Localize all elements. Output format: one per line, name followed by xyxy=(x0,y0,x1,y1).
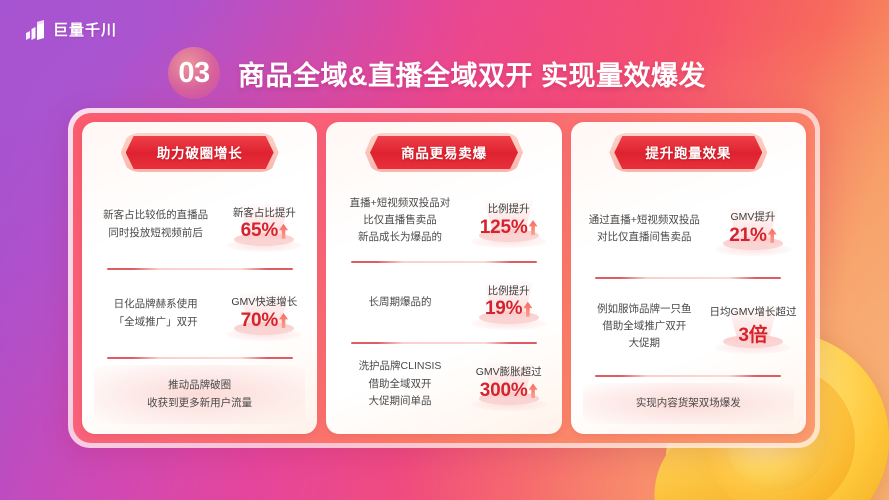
stat-value: 125% xyxy=(480,217,528,239)
cards-container: 助力破圈增长新客占比较低的直播品同时投放短视频前后新客占比提升65%日化品牌赫系… xyxy=(73,113,815,443)
card-header-pill: 助力破圈增长 xyxy=(121,133,279,172)
card-header-label: 商品更易卖爆 xyxy=(401,146,487,161)
row-divider xyxy=(107,357,293,359)
brand-logo: 巨量千川 xyxy=(24,19,117,40)
metric-row: 通过直播+短视频双投品对比仅直播间售卖品GMV提升21% xyxy=(583,181,794,277)
card-header-label: 提升跑量效果 xyxy=(645,146,731,161)
content-panel: 助力破圈增长新客占比较低的直播品同时投放短视频前后新客占比提升65%日化品牌赫系… xyxy=(68,108,820,448)
row-divider xyxy=(595,375,781,377)
stat-value-group: 300% xyxy=(480,380,538,402)
section-number-badge: 03 xyxy=(168,47,220,99)
stat-value-group: 70% xyxy=(241,310,288,332)
metric-description: 通过直播+短视频双投品对比仅直播间售卖品 xyxy=(583,212,706,247)
card-header-label: 助力破圈增长 xyxy=(157,146,243,161)
page-title: 商品全域&直播全域双开 实现量效爆发 xyxy=(238,54,706,93)
stat-value: 21% xyxy=(729,225,766,247)
brand-name: 巨量千川 xyxy=(53,19,117,40)
card-rows: 通过直播+短视频双投品对比仅直播间售卖品GMV提升21%例如服饰品牌一只鱼借助全… xyxy=(583,181,794,377)
stat-label: GMV快速增长 xyxy=(231,296,297,309)
metric-description: 直播+短视频双投品对比仅直播售卖品新品成长为爆品的 xyxy=(338,195,461,247)
metric-stat: 比例提升125% xyxy=(468,190,550,252)
section-number: 03 xyxy=(178,57,209,90)
up-arrow-icon xyxy=(279,224,288,239)
stat-value: 19% xyxy=(485,298,522,320)
stat-label: GMV提升 xyxy=(731,211,776,224)
card-header-pill: 商品更易卖爆 xyxy=(365,133,523,172)
stat-value: 70% xyxy=(241,310,278,332)
bar-chart-logo-icon xyxy=(24,20,46,40)
card-rows: 新客占比较低的直播品同时投放短视频前后新客占比提升65%日化品牌赫系使用「全域推… xyxy=(94,181,305,359)
row-divider xyxy=(351,261,537,263)
stat-value-group: 65% xyxy=(241,220,288,242)
stat-label: GMV膨胀超过 xyxy=(476,366,542,379)
stat-value-group: 3倍 xyxy=(738,320,767,347)
metric-row: 长周期爆品的比例提升19% xyxy=(338,263,549,343)
card-footer-banner: 推动品牌破圈收获到更多新用户流量 xyxy=(94,365,305,424)
metric-description: 长周期爆品的 xyxy=(338,294,461,311)
metric-stat: GMV膨胀超过300% xyxy=(468,353,550,415)
stat-label: 日均GMV增长超过 xyxy=(710,306,797,319)
up-arrow-icon xyxy=(529,220,538,235)
stat-value: 300% xyxy=(480,380,528,402)
metric-stat: 新客占比提升65% xyxy=(223,194,305,256)
metric-description: 新客占比较低的直播品同时投放短视频前后 xyxy=(94,207,217,242)
metric-row: 直播+短视频双投品对比仅直播售卖品新品成长为爆品的比例提升125% xyxy=(338,181,549,261)
stat-label: 比例提升 xyxy=(488,285,530,298)
metric-card: 助力破圈增长新客占比较低的直播品同时投放短视频前后新客占比提升65%日化品牌赫系… xyxy=(82,122,317,434)
stat-value-group: 19% xyxy=(485,298,532,320)
metric-description: 日化品牌赫系使用「全域推广」双开 xyxy=(94,296,217,331)
metric-row: 洗护品牌CLINSIS借助全域双开大促期间单品GMV膨胀超过300% xyxy=(338,344,549,424)
stat-value: 3倍 xyxy=(738,320,767,347)
card-header-pill: 提升跑量效果 xyxy=(609,133,767,172)
stat-label: 新客占比提升 xyxy=(233,207,296,220)
up-arrow-icon xyxy=(768,228,777,243)
row-divider xyxy=(107,268,293,270)
stat-value-group: 21% xyxy=(729,225,776,247)
up-arrow-icon xyxy=(279,313,288,328)
stat-value-group: 125% xyxy=(480,217,538,239)
stat-label: 比例提升 xyxy=(488,203,530,216)
page-title-row: 03 商品全域&直播全域双开 实现量效爆发 xyxy=(168,47,706,99)
card-rows: 直播+短视频双投品对比仅直播售卖品新品成长为爆品的比例提升125%长周期爆品的比… xyxy=(338,181,549,424)
metric-stat: GMV快速增长70% xyxy=(223,283,305,345)
up-arrow-icon xyxy=(529,383,538,398)
metric-row: 新客占比较低的直播品同时投放短视频前后新客占比提升65% xyxy=(94,181,305,268)
metric-stat: 日均GMV增长超过3倍 xyxy=(712,296,794,358)
row-divider xyxy=(595,277,781,279)
metric-card: 提升跑量效果通过直播+短视频双投品对比仅直播间售卖品GMV提升21%例如服饰品牌… xyxy=(571,122,806,434)
metric-row: 例如服饰品牌一只鱼借助全域推广双开大促期日均GMV增长超过3倍 xyxy=(583,279,794,375)
metric-card: 商品更易卖爆直播+短视频双投品对比仅直播售卖品新品成长为爆品的比例提升125%长… xyxy=(326,122,561,434)
metric-row: 日化品牌赫系使用「全域推广」双开GMV快速增长70% xyxy=(94,270,305,357)
metric-description: 洗护品牌CLINSIS借助全域双开大促期间单品 xyxy=(338,358,461,410)
up-arrow-icon xyxy=(523,302,532,317)
stat-value: 65% xyxy=(241,220,278,242)
metric-stat: 比例提升19% xyxy=(468,272,550,334)
metric-stat: GMV提升21% xyxy=(712,198,794,260)
metric-description: 例如服饰品牌一只鱼借助全域推广双开大促期 xyxy=(583,301,706,353)
card-footer-banner: 实现内容货架双场爆发 xyxy=(583,383,794,424)
